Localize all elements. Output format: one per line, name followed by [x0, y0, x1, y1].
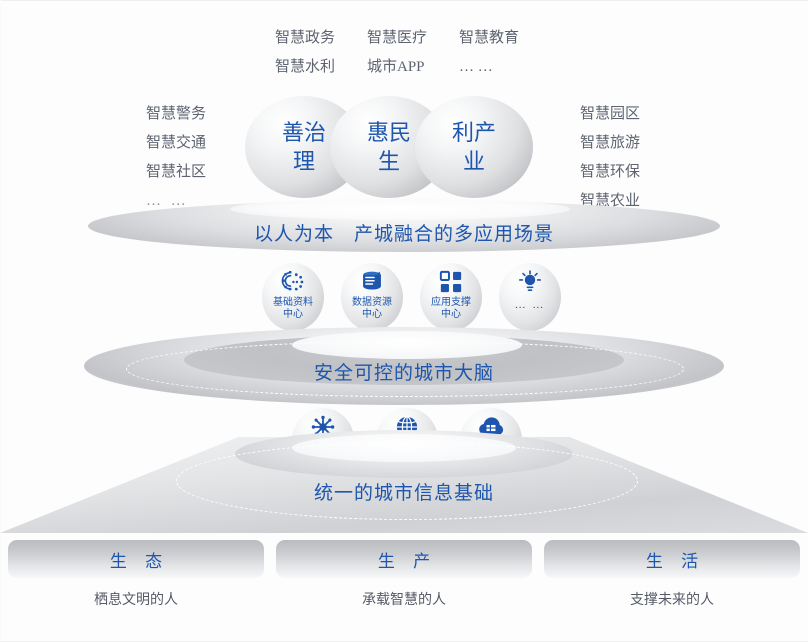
application-layer-caption: 以人为本 产城融合的多应用场景	[0, 219, 808, 246]
top-app-label-ellipsis: … …	[459, 53, 551, 82]
platform-center-more[interactable]: … …	[499, 263, 561, 331]
sphere-industry[interactable]: 利产 业	[415, 96, 533, 198]
bottom-card-subtitle: 承载智慧的人	[362, 589, 446, 609]
platform-center-more-label: … …	[515, 299, 546, 311]
left-app-label: 智慧社区	[146, 158, 206, 187]
sphere-industry-label: 利产 业	[447, 118, 501, 176]
bottom-card-ecology[interactable]: 生 态 栖息文明的人	[8, 540, 264, 616]
application-layer-highlight	[230, 198, 570, 220]
right-app-label: 智慧旅游	[580, 129, 640, 158]
bottom-card-title: 生 态	[103, 547, 169, 572]
label-line-1: 应用支撑	[431, 297, 471, 308]
left-app-label: 智慧警务	[146, 100, 206, 129]
bottom-card-box[interactable]: 生 产	[276, 540, 532, 578]
platform-center-label: 基础资料 中心	[273, 297, 313, 321]
information-base-caption: 统一的城市信息基础	[0, 478, 808, 505]
bottom-card-living[interactable]: 生 活 支撑未来的人	[544, 540, 800, 616]
label-line-2: 中心	[362, 309, 382, 320]
bottom-card-box[interactable]: 生 活	[544, 540, 800, 578]
diagram-canvas: 智慧政务 智慧医疗 智慧教育 智慧水利 城市APP … … 智慧警务 智慧交通 …	[0, 0, 808, 642]
sphere-line-1: 惠民	[367, 120, 411, 145]
sphere-line-2: 业	[463, 149, 485, 174]
sphere-livelihood-label: 惠民 生	[362, 118, 416, 176]
top-app-label: 智慧医疗	[367, 24, 459, 53]
platform-center-data-resource[interactable]: 数据资源 中心	[341, 263, 403, 331]
app-grid-icon	[438, 269, 464, 295]
information-base-plate-inner	[292, 434, 516, 462]
sphere-line-1: 利产	[452, 120, 496, 145]
lightbulb-icon	[517, 269, 543, 295]
bottom-card-title: 生 活	[639, 547, 705, 572]
platform-center-label: 应用支撑 中心	[431, 297, 471, 321]
top-divider	[0, 0, 808, 1]
label-line-2: 中心	[441, 309, 461, 320]
sphere-line-2: 生	[378, 149, 400, 174]
platform-center-basic-data[interactable]: 基础资料 中心	[262, 263, 324, 331]
label-line-2: 中心	[283, 309, 303, 320]
database-icon	[359, 269, 385, 295]
label-line-1: 数据资源	[352, 297, 392, 308]
city-brain-inner-well	[292, 331, 522, 359]
bottom-card-subtitle: 支撑未来的人	[630, 589, 714, 609]
left-application-labels: 智慧警务 智慧交通 智慧社区 … …	[146, 100, 206, 216]
right-app-label: 智慧环保	[580, 158, 640, 187]
platform-center-app-support[interactable]: 应用支撑 中心	[420, 263, 482, 331]
top-application-labels: 智慧政务 智慧医疗 智慧教育 智慧水利 城市APP … …	[275, 24, 551, 82]
ai-gear-icon	[280, 269, 306, 295]
bottom-card-group: 生 态 栖息文明的人 生 产 承载智慧的人 生 活 支撑未来的人	[8, 540, 800, 616]
platform-center-group: 基础资料 中心 数据资源 中心	[262, 263, 562, 335]
left-edge	[0, 0, 1, 642]
top-app-label: 城市APP	[367, 53, 459, 82]
top-app-label: 智慧政务	[275, 24, 367, 53]
bottom-card-title: 生 产	[371, 547, 437, 572]
goal-spheres-group: 善治 理 惠民 生 利产 业	[245, 96, 565, 201]
sphere-line-1: 善治	[282, 120, 326, 145]
right-app-label: 智慧园区	[580, 100, 640, 129]
platform-center-label: 数据资源 中心	[352, 297, 392, 321]
sphere-line-2: 理	[293, 149, 315, 174]
city-brain-caption: 安全可控的城市大脑	[0, 358, 808, 385]
left-app-label: 智慧交通	[146, 129, 206, 158]
label-line-1: 基础资料	[273, 297, 313, 308]
bottom-card-box[interactable]: 生 态	[8, 540, 264, 578]
bottom-card-production[interactable]: 生 产 承载智慧的人	[276, 540, 532, 616]
bottom-card-subtitle: 栖息文明的人	[94, 589, 178, 609]
sphere-governance-label: 善治 理	[277, 118, 331, 176]
top-app-label: 智慧教育	[459, 24, 551, 53]
top-app-label: 智慧水利	[275, 53, 367, 82]
